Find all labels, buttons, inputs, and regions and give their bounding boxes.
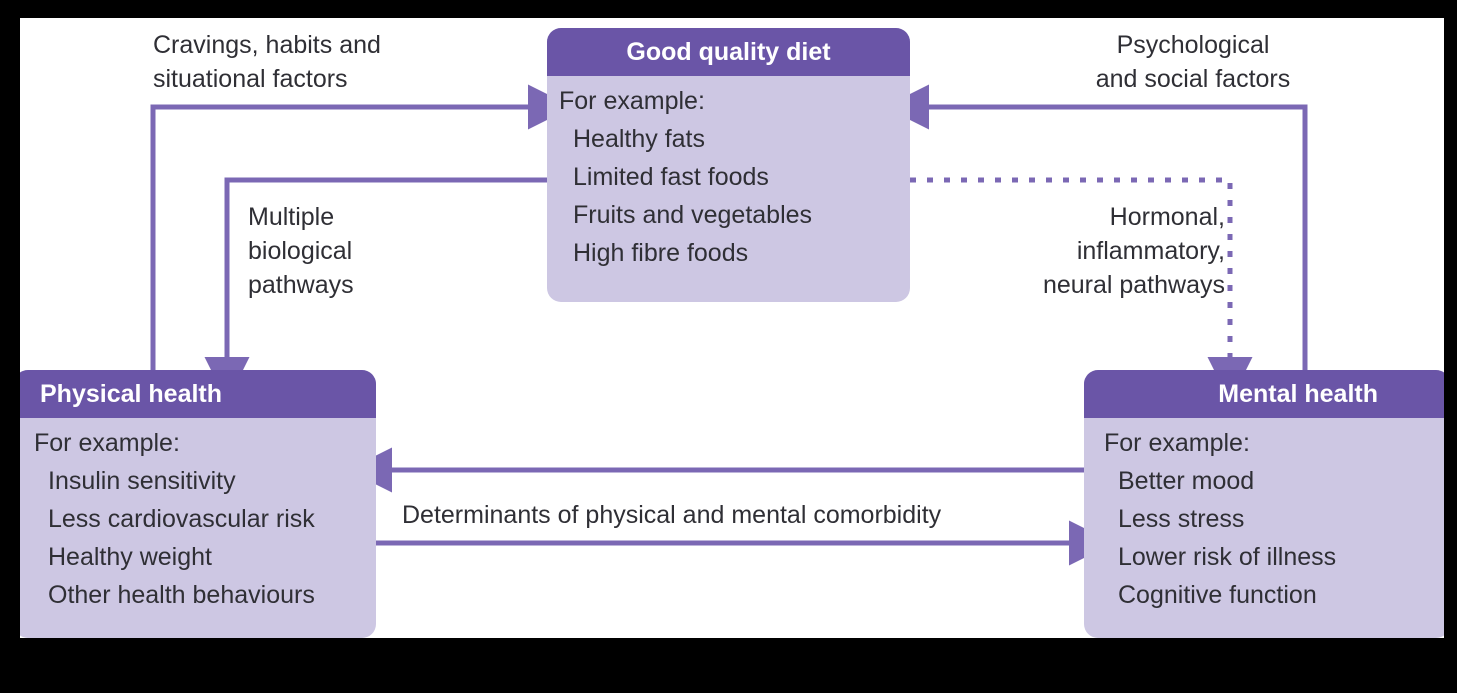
edge-label-hormonal-pathways: Hormonal, inflammatory, neural pathways	[1020, 200, 1225, 302]
box-mental-health-lead: For example:	[1104, 424, 1438, 462]
box-physical-health-list: Insulin sensitivity Less cardiovascular …	[34, 462, 364, 614]
edge-label-cravings-line1: Cravings, habits and	[153, 28, 381, 62]
box-good-quality-diet-body: For example: Healthy fats Limited fast f…	[547, 76, 910, 282]
list-item: Lower risk of illness	[1104, 538, 1438, 576]
edge-label-psychological-line2: and social factors	[1052, 62, 1334, 96]
edge-label-multiple-line1: Multiple	[248, 200, 354, 234]
box-mental-health-title: Mental health	[1084, 370, 1444, 418]
edge-label-psychological-line1: Psychological	[1052, 28, 1334, 62]
diagram-canvas: Cravings, habits and situational factors…	[0, 0, 1457, 693]
list-item: Better mood	[1104, 462, 1438, 500]
box-mental-health: Mental health For example: Better mood L…	[1084, 370, 1444, 638]
list-item: Limited fast foods	[559, 158, 898, 196]
box-good-quality-diet: Good quality diet For example: Healthy f…	[547, 28, 910, 302]
box-good-quality-diet-list: Healthy fats Limited fast foods Fruits a…	[559, 120, 898, 272]
list-item: Healthy weight	[34, 538, 364, 576]
edge-label-cravings: Cravings, habits and situational factors	[153, 28, 381, 96]
list-item: Cognitive function	[1104, 576, 1438, 614]
box-physical-health-title: Physical health	[20, 370, 376, 418]
box-good-quality-diet-lead: For example:	[559, 82, 898, 120]
diagram-surface: Cravings, habits and situational factors…	[20, 18, 1444, 638]
box-mental-health-body: For example: Better mood Less stress Low…	[1084, 418, 1444, 624]
edge-label-cravings-line2: situational factors	[153, 62, 381, 96]
box-physical-health: Physical health For example: Insulin sen…	[20, 370, 376, 638]
edge-label-hormonal-line3: neural pathways	[1020, 268, 1225, 302]
edge-label-hormonal-line2: inflammatory,	[1020, 234, 1225, 268]
box-physical-health-body: For example: Insulin sensitivity Less ca…	[20, 418, 376, 624]
edge-label-hormonal-line1: Hormonal,	[1020, 200, 1225, 234]
edge-label-psychological: Psychological and social factors	[1052, 28, 1334, 96]
edge-label-multiple-biological-pathways: Multiple biological pathways	[248, 200, 354, 302]
list-item: High fibre foods	[559, 234, 898, 272]
list-item: Healthy fats	[559, 120, 898, 158]
edge-label-multiple-line3: pathways	[248, 268, 354, 302]
edge-label-multiple-line2: biological	[248, 234, 354, 268]
list-item: Insulin sensitivity	[34, 462, 364, 500]
list-item: Other health behaviours	[34, 576, 364, 614]
list-item: Less cardiovascular risk	[34, 500, 364, 538]
box-mental-health-list: Better mood Less stress Lower risk of il…	[1104, 462, 1438, 614]
box-good-quality-diet-title: Good quality diet	[547, 28, 910, 76]
edge-label-determinants: Determinants of physical and mental como…	[402, 498, 941, 532]
list-item: Fruits and vegetables	[559, 196, 898, 234]
list-item: Less stress	[1104, 500, 1438, 538]
box-physical-health-lead: For example:	[34, 424, 364, 462]
